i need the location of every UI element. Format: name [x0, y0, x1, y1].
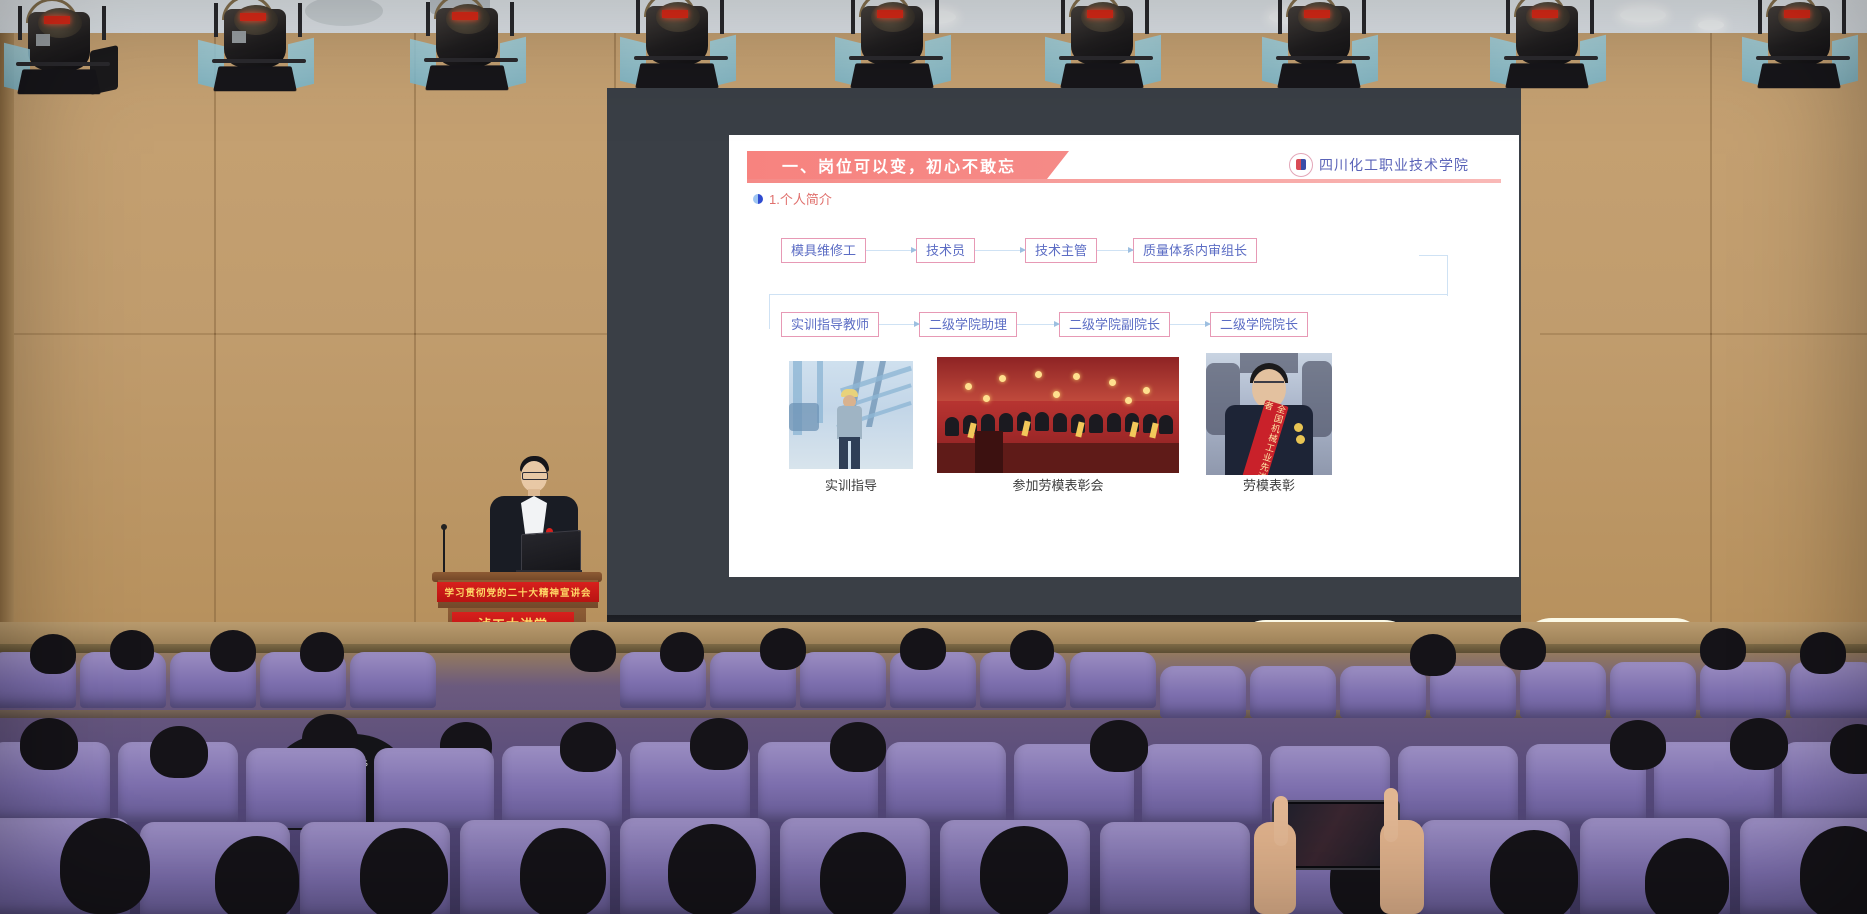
microphone-stem: [443, 528, 445, 574]
audience-head: [60, 818, 150, 914]
audience-head: [668, 824, 756, 914]
wall-panel: [1710, 333, 1867, 625]
worker-torso: [837, 406, 862, 439]
light-yoke: [1362, 0, 1366, 34]
audience-head: [1090, 720, 1148, 772]
photo-caption: 劳模表彰: [1206, 475, 1332, 494]
flow-box: 技术员: [916, 238, 975, 263]
audience-seat: [1160, 666, 1246, 718]
light-label: [36, 34, 50, 46]
finger: [1384, 788, 1398, 842]
light-yoke: [851, 0, 855, 34]
audience-head: [150, 726, 208, 778]
light-front-flap: [425, 65, 509, 90]
audience-head: [300, 632, 344, 672]
career-flow-row-1: 模具维修工 技术员 技术主管 质量体系内审组长: [781, 238, 1257, 263]
worker-leg-gap: [848, 441, 851, 469]
slide-title-bar: 一、岗位可以变，初心不敢忘: [747, 151, 1069, 179]
finger: [1274, 796, 1288, 846]
audience-seat: [246, 748, 366, 828]
audience-head: [215, 836, 299, 914]
stage-light: [1752, 0, 1860, 92]
flow-arrow: [1097, 250, 1133, 251]
light-label: [232, 31, 246, 43]
light-yoke: [1061, 0, 1065, 34]
attendee: [945, 417, 959, 436]
flow-box: 技术主管: [1025, 238, 1097, 263]
institution-name: 四川化工职业技术学院: [1319, 155, 1469, 175]
audience-head: [560, 722, 616, 772]
podium-banner-top: 学习贯彻党的二十大精神宣讲会: [437, 582, 599, 602]
audience-head: [830, 722, 886, 772]
school-crest-icon: [1289, 153, 1313, 177]
flow-box: 二级学院副院长: [1059, 312, 1170, 337]
stage-light: [1272, 0, 1380, 92]
ceiling-light-dot: [965, 383, 972, 390]
stage-light: [1500, 0, 1608, 92]
flow-box: 实训指导教师: [781, 312, 879, 337]
slide-title: 一、岗位可以变，初心不敢忘: [766, 153, 1050, 177]
audience-head: [980, 826, 1068, 914]
light-yoke: [214, 3, 218, 37]
slide-subtitle-text: 1.个人简介: [769, 189, 832, 208]
light-yoke: [1590, 0, 1594, 34]
light-indicator: [1087, 10, 1113, 18]
audience-head: [360, 828, 448, 914]
flow-arrow: [866, 250, 916, 251]
lecture-hall-photo: 一、岗位可以变，初心不敢忘 四川化工职业技术学院 1.个人简介 模具维修工 技术…: [0, 0, 1867, 914]
audience-head: [210, 630, 256, 672]
audience-head: [30, 634, 76, 674]
light-yoke: [1278, 0, 1282, 34]
light-bracket: [16, 62, 110, 66]
audience-seat: [800, 652, 886, 708]
audience-head: [660, 632, 704, 672]
projection-screen: 一、岗位可以变，初心不敢忘 四川化工职业技术学院 1.个人简介 模具维修工 技术…: [729, 135, 1519, 577]
audience-recording-group: [1244, 782, 1444, 914]
light-bracket: [1504, 56, 1598, 60]
stage-light: [845, 0, 953, 92]
attendee: [1107, 413, 1121, 432]
audience-head: [900, 628, 946, 670]
audience-head: [1730, 718, 1788, 770]
slide: 一、岗位可以变，初心不敢忘 四川化工职业技术学院 1.个人简介 模具维修工 技术…: [729, 135, 1519, 577]
flow-arrow: [1170, 324, 1210, 325]
slide-photo-honor: 全国机械工业先进工作者: [1206, 353, 1332, 475]
audience-seat: [1700, 662, 1786, 718]
audience-head: [570, 630, 616, 672]
flow-box: 二级学院助理: [919, 312, 1017, 337]
ceiling-light-dot: [1143, 387, 1150, 394]
light-front-flap: [635, 63, 719, 88]
audience-seat: [1520, 662, 1606, 718]
wall-panel: [1540, 333, 1712, 625]
audience-head: [1500, 628, 1546, 670]
audience-seat: [886, 742, 1006, 822]
light-yoke: [636, 0, 640, 34]
medal: [1294, 423, 1303, 432]
audience-head: [1410, 634, 1456, 676]
light-yoke: [1758, 0, 1762, 34]
ceiling-light-dot: [1125, 397, 1132, 404]
wall-panel: [14, 333, 216, 625]
light-front-flap: [850, 63, 934, 88]
stage-light: [208, 3, 316, 95]
light-yoke: [18, 6, 22, 40]
flow-connector-down: [769, 294, 771, 329]
attendee: [1053, 413, 1067, 432]
light-yoke: [935, 0, 939, 34]
light-yoke: [102, 6, 106, 40]
light-front-flap: [1505, 63, 1589, 88]
audience-head: [760, 628, 806, 670]
light-bracket: [212, 59, 306, 63]
light-indicator: [240, 13, 266, 21]
audience-seat: [1100, 822, 1250, 914]
audience-seat: [1250, 666, 1336, 718]
slide-photo-training: [789, 361, 913, 469]
ceiling-light-dot: [1035, 371, 1042, 378]
slide-title-underline: [747, 179, 1501, 183]
medal: [1296, 435, 1305, 444]
flow-arrow: [1017, 324, 1059, 325]
flow-box: 二级学院院长: [1210, 312, 1308, 337]
ceiling-light-dot: [1073, 373, 1080, 380]
light-indicator: [452, 12, 478, 20]
light-front-flap: [1757, 63, 1841, 88]
light-indicator: [662, 10, 688, 18]
audience-seat: [350, 652, 436, 708]
audience-seat: [1340, 666, 1426, 718]
stage-light: [420, 2, 528, 94]
light-bracket: [1276, 56, 1370, 60]
microphone-head: [441, 524, 447, 530]
stage-light: [630, 0, 738, 92]
ceiling-light-dot: [1109, 379, 1116, 386]
stage-light: [12, 6, 120, 98]
speaker-glasses: [522, 472, 548, 480]
audience-head: [1010, 630, 1054, 670]
audience-seat: [374, 748, 494, 828]
flow-box: 质量体系内审组长: [1133, 238, 1257, 263]
audience-head: [820, 832, 906, 914]
audience-seat: [1610, 662, 1696, 718]
flow-arrow: [879, 324, 919, 325]
light-indicator: [1784, 10, 1810, 18]
ceiling-downlight: [1698, 20, 1724, 30]
photo-caption: 实训指导: [789, 475, 913, 494]
audience-head: [1800, 632, 1846, 674]
light-yoke: [510, 2, 514, 36]
plant-tank: [789, 403, 819, 431]
light-front-flap: [1060, 63, 1144, 88]
ceiling-light-dot: [999, 375, 1006, 382]
light-indicator: [877, 10, 903, 18]
bullet-icon: [753, 194, 763, 204]
ceiling-light-dot: [983, 395, 990, 402]
light-front-flap: [17, 69, 101, 94]
light-yoke: [426, 2, 430, 36]
audience-head: [1610, 720, 1666, 770]
audience-head: [110, 630, 154, 670]
audience-head: [520, 828, 606, 914]
light-indicator: [1304, 10, 1330, 18]
flow-connector-right: [1419, 255, 1448, 296]
light-yoke: [1506, 0, 1510, 34]
audience-head: [20, 718, 78, 770]
institution-logo: 四川化工职业技术学院: [1289, 153, 1469, 177]
ceiling-light-dot: [1053, 391, 1060, 398]
wall-panel: [214, 333, 416, 625]
light-front-flap: [1277, 63, 1361, 88]
light-bracket: [849, 56, 943, 60]
photo-caption: 参加劳模表彰会: [937, 475, 1179, 494]
light-indicator: [1532, 10, 1558, 18]
audience-head: [1830, 724, 1867, 774]
attendee: [1089, 414, 1103, 433]
flow-box: 模具维修工: [781, 238, 866, 263]
light-yoke: [720, 0, 724, 34]
audience-area: CTROPOLIS: [0, 622, 1867, 914]
light-bracket: [1059, 56, 1153, 60]
ceremony-podium: [975, 431, 1003, 473]
podium-banner-line1: 学习贯彻党的二十大精神宣讲会: [444, 585, 591, 599]
ceremony-desk: [937, 443, 1179, 473]
stage-light: [1055, 0, 1163, 92]
audience-head: [690, 718, 748, 770]
audience-head: [1645, 838, 1729, 914]
audience-head: [1490, 830, 1578, 914]
attendee: [1035, 412, 1049, 431]
career-flow-row-2: 实训指导教师 二级学院助理 二级学院副院长 二级学院院长: [781, 312, 1308, 337]
flow-connector-left: [769, 294, 1448, 296]
slide-subtitle: 1.个人简介: [753, 189, 832, 208]
audience-head: [1700, 628, 1746, 670]
attendee: [1159, 415, 1173, 434]
ceiling-downlight: [1620, 8, 1666, 22]
attendee: [999, 413, 1013, 432]
light-indicator: [44, 16, 70, 24]
slide-photo-ceremony: [937, 357, 1179, 473]
light-front-flap: [213, 66, 297, 91]
portrait-glasses: [1254, 381, 1284, 390]
light-yoke: [1842, 0, 1846, 34]
light-bracket: [424, 58, 518, 62]
light-bracket: [634, 56, 728, 60]
light-yoke: [298, 3, 302, 37]
audience-seat: [1070, 652, 1156, 708]
light-yoke: [1145, 0, 1149, 34]
light-bracket: [1756, 56, 1850, 60]
flow-arrow: [975, 250, 1025, 251]
